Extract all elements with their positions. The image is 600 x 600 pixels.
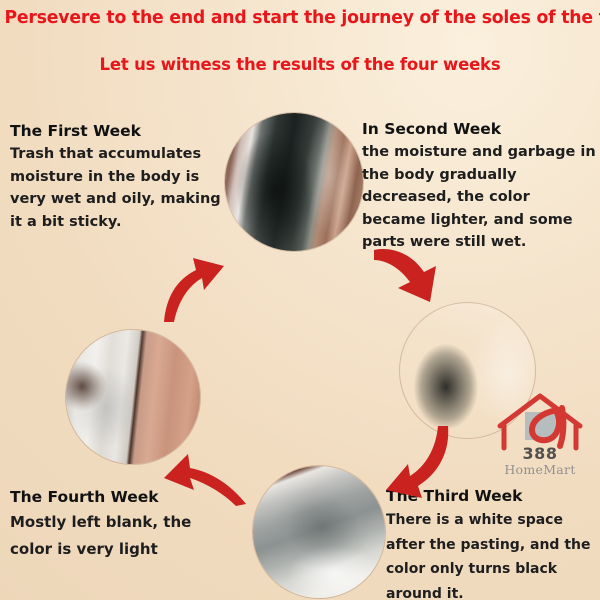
week-one-title: The First Week (10, 122, 225, 141)
photo-week-three (253, 466, 385, 598)
week-four-title: The Fourth Week (10, 488, 225, 507)
house-with-letter-a-icon (492, 392, 588, 452)
watermark-brand: HomeMart (492, 462, 588, 477)
week-two-text-block: In Second Week the moisture and garbage … (362, 120, 597, 254)
headline-secondary: Let us witness the results of the four w… (0, 55, 600, 74)
week-four-text-block: The Fourth Week Mostly left blank, the c… (10, 488, 225, 562)
photo-week-four (66, 330, 200, 464)
photo-week-one-image (225, 113, 363, 251)
watermark: 388 HomeMart (492, 392, 588, 484)
headline-primary: Persevere to the end and start the journ… (5, 8, 596, 28)
photo-week-four-image (66, 330, 200, 464)
photo-week-one (225, 113, 363, 251)
week-three-body: There is a white space after the pasting… (386, 508, 598, 600)
watermark-number: 388 (492, 444, 588, 463)
week-two-body: the moisture and garbage in the body gra… (362, 141, 597, 253)
week-four-body: Mostly left blank, the color is very lig… (10, 509, 225, 562)
poster-canvas: Persevere to the end and start the journ… (0, 0, 600, 600)
week-one-text-block: The First Week Trash that accumulates mo… (10, 122, 225, 233)
week-three-title: The Third Week (386, 487, 598, 506)
week-two-title: In Second Week (362, 120, 597, 139)
arrow-week1-to-week2-icon (160, 252, 240, 324)
week-three-text-block: The Third Week There is a white space af… (386, 487, 598, 600)
week-one-body: Trash that accumulates moisture in the b… (10, 143, 225, 233)
photo-week-three-image (253, 466, 385, 598)
